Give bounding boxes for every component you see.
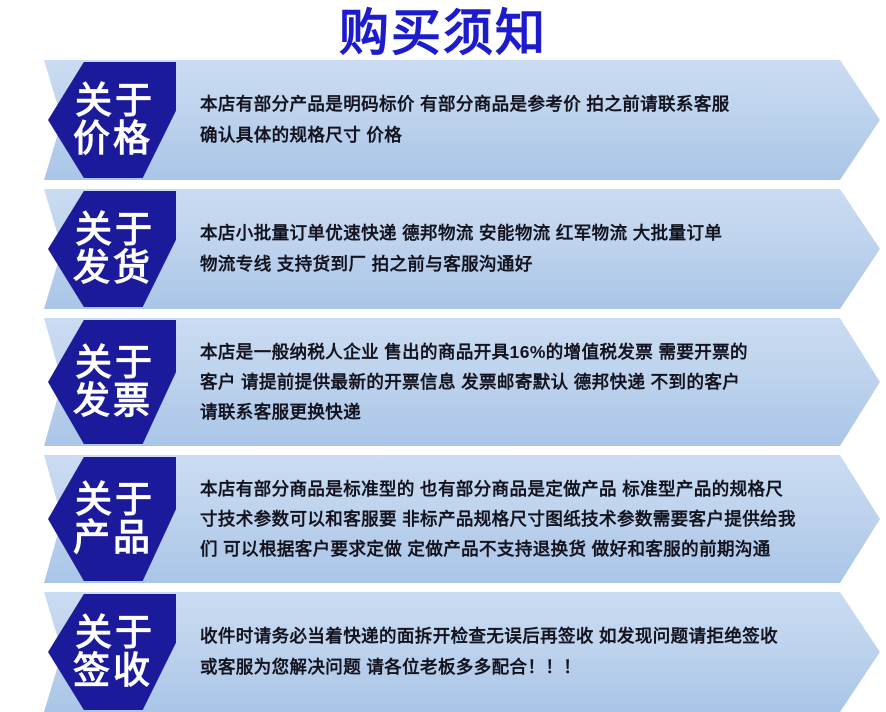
badge-label-top: 关于 (69, 211, 155, 249)
notice-text-shipping: 本店小批量订单优速快递 德邦物流 安能物流 红军物流 大批量订单 物流专线 支持… (200, 189, 816, 309)
notice-section-list: 关于 价格 本店有部分产品是明码标价 有部分商品是参考价 拍之前请联系客服 确认… (0, 60, 886, 712)
notice-line: 物流专线 支持货到厂 拍之前与客服沟通好 (200, 249, 816, 280)
notice-line: 本店小批量订单优速快递 德邦物流 安能物流 红军物流 大批量订单 (200, 218, 816, 249)
notice-text-receipt: 收件时请务必当着快递的面拆开检查无误后再签收 如发现问题请拒绝签收 或客服为您解… (200, 592, 816, 712)
notice-text-product: 本店有部分商品是标准型的 也有部分商品是定做产品 标准型产品的规格尺 寸技术参数… (200, 455, 816, 583)
notice-line: 请联系客服更换快递 (200, 397, 816, 427)
notice-row-product: 关于 产品 本店有部分商品是标准型的 也有部分商品是定做产品 标准型产品的规格尺… (0, 455, 886, 583)
badge-label-top: 关于 (69, 82, 155, 120)
badge-label-bottom: 产品 (71, 519, 153, 557)
notice-line: 本店有部分产品是明码标价 有部分商品是参考价 拍之前请联系客服 (200, 89, 816, 120)
notice-line: 确认具体的规格尺寸 价格 (200, 120, 816, 151)
page-title: 购买须知 (0, 0, 886, 60)
notice-text-invoice: 本店是一般纳税人企业 售出的商品开具16%的增值税发票 需要开票的 客户 请提前… (200, 318, 816, 446)
notice-line: 本店有部分商品是标准型的 也有部分商品是定做产品 标准型产品的规格尺 (200, 474, 816, 504)
notice-text-price: 本店有部分产品是明码标价 有部分商品是参考价 拍之前请联系客服 确认具体的规格尺… (200, 60, 816, 180)
badge-label-top: 关于 (69, 344, 155, 382)
badge-label-bottom: 发票 (71, 382, 153, 420)
notice-line: 们 可以根据客户要求定做 定做产品不支持退换货 做好和客服的前期沟通 (200, 534, 816, 564)
badge-label-bottom: 价格 (71, 120, 153, 158)
badge-label-bottom: 发货 (71, 249, 153, 287)
notice-row-receipt: 关于 签收 收件时请务必当着快递的面拆开检查无误后再签收 如发现问题请拒绝签收 … (0, 592, 886, 712)
badge-label-top: 关于 (69, 614, 155, 652)
notice-line: 或客服为您解决问题 请各位老板多多配合！！！ (200, 652, 816, 683)
notice-line: 客户 请提前提供最新的开票信息 发票邮寄默认 德邦快递 不到的客户 (200, 367, 816, 397)
notice-line: 本店是一般纳税人企业 售出的商品开具16%的增值税发票 需要开票的 (200, 337, 816, 367)
badge-label-bottom: 签收 (71, 652, 153, 690)
notice-row-invoice: 关于 发票 本店是一般纳税人企业 售出的商品开具16%的增值税发票 需要开票的 … (0, 318, 886, 446)
badge-label-top: 关于 (69, 481, 155, 519)
notice-row-price: 关于 价格 本店有部分产品是明码标价 有部分商品是参考价 拍之前请联系客服 确认… (0, 60, 886, 180)
notice-line: 收件时请务必当着快递的面拆开检查无误后再签收 如发现问题请拒绝签收 (200, 621, 816, 652)
notice-line: 寸技术参数可以和客服要 非标产品规格尺寸图纸技术参数需要客户提供给我 (200, 504, 816, 534)
notice-row-shipping: 关于 发货 本店小批量订单优速快递 德邦物流 安能物流 红军物流 大批量订单 物… (0, 189, 886, 309)
